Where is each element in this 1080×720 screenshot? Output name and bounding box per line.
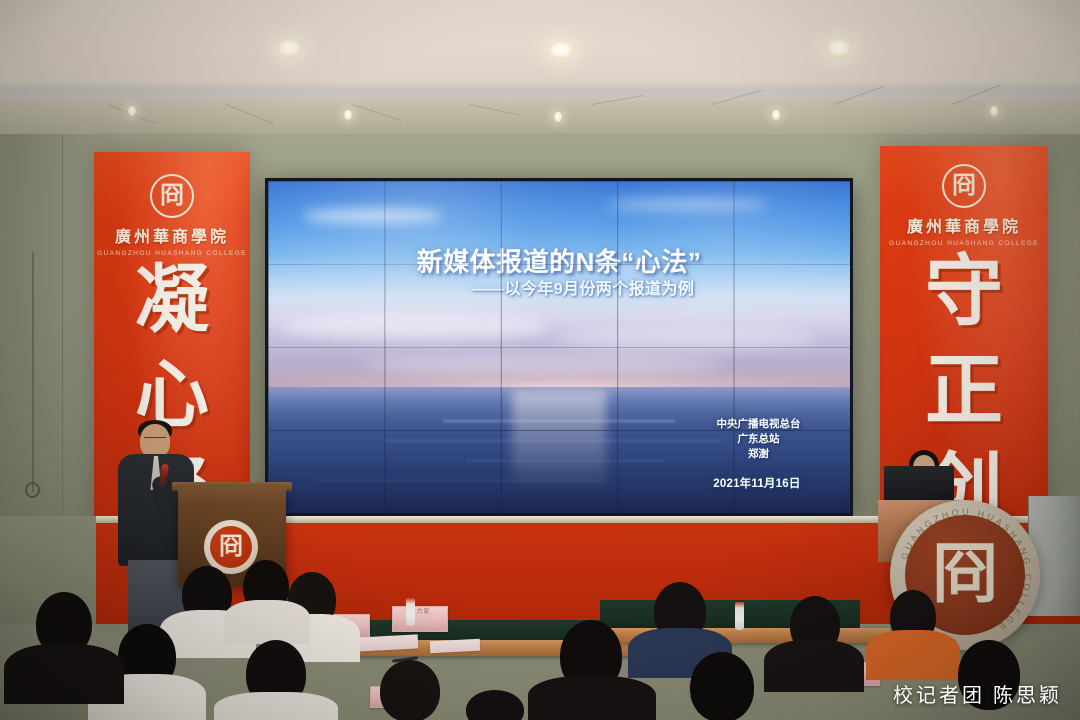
ceiling-spotlight-icon <box>772 110 780 120</box>
photo-credit-watermark: 校记者团 陈思颖 <box>893 679 1062 708</box>
audience-shoulders <box>764 640 864 692</box>
nameplate-text: 王力宏 <box>393 607 447 618</box>
audience-head <box>690 652 754 720</box>
audience-shoulders <box>866 630 960 680</box>
emblem-glyph: 冏 <box>152 176 192 216</box>
screenshot-root: 冏 廣州華商學院 GUANGZHOU HUASHANG COLLEGE 凝 心 … <box>0 0 1080 720</box>
emblem-glyph: 冏 <box>944 166 984 206</box>
slide-subtitle: ——以今年9月份两个报道为例 <box>268 275 850 299</box>
sea-ripple <box>443 420 676 422</box>
banner-left-logo: 冏 廣州華商學院 GUANGZHOU HUASHANG COLLEGE <box>94 174 250 257</box>
college-name-en: GUANGZHOU HUASHANG COLLEGE <box>94 250 250 257</box>
audience-shoulders <box>214 692 338 720</box>
cloud-wisp <box>303 208 443 225</box>
video-wall[interactable]: 新媒体报道的N条“心法” ——以今年9月份两个报道为例 中央广播电视总台 广东总… <box>265 178 853 516</box>
audience-head <box>466 690 524 720</box>
credit-bureau: 广东总站 <box>717 432 801 447</box>
ceiling-spotlight-icon <box>554 112 562 122</box>
presentation-slide: 新媒体报道的N条“心法” ——以今年9月份两个报道为例 中央广播电视总台 广东总… <box>268 181 850 513</box>
table-nameplate: 王力宏 <box>392 606 448 632</box>
slogan-char: 正 <box>880 353 1048 428</box>
credit-organization: 中央广播电视总台 <box>717 417 801 432</box>
college-name-en: GUANGZHOU HUASHANG COLLEGE <box>880 240 1048 247</box>
audience-head <box>380 660 440 720</box>
water-bottle <box>735 602 744 630</box>
ceiling-spotlight-icon <box>990 106 998 116</box>
audience-shoulders <box>4 644 124 704</box>
college-name-cn: 廣州華商學院 <box>880 213 1048 237</box>
ceiling-downlight-icon <box>548 42 574 59</box>
cloud-wisp <box>606 198 769 211</box>
college-emblem-icon: 冏 <box>150 174 194 218</box>
seal-glyph: 冏 <box>932 542 998 608</box>
banner-right-logo: 冏 廣州華商學院 GUANGZHOU HUASHANG COLLEGE <box>880 164 1048 247</box>
audience-shoulders <box>528 676 656 720</box>
college-name-cn: 廣州華商學院 <box>94 223 250 247</box>
cable-hook-icon <box>25 482 40 498</box>
sea-ripple <box>466 460 664 462</box>
hanging-cable <box>32 252 34 492</box>
credit-presenter-name: 郑澍 <box>717 447 801 462</box>
slide-date: 2021年11月16日 <box>713 475 800 491</box>
slogan-char: 守 <box>880 254 1048 329</box>
audience-shoulders <box>224 600 310 644</box>
ceiling-spotlight-icon <box>128 106 136 116</box>
glasses-icon <box>144 437 166 442</box>
podium-emblem-glyph: 冏 <box>210 526 252 568</box>
ceiling-spotlight-icon <box>344 110 352 120</box>
slogan-char: 心 <box>94 359 250 430</box>
slogan-char: 凝 <box>94 264 250 335</box>
water-bottle <box>406 598 415 626</box>
college-emblem-icon: 冏 <box>942 164 986 208</box>
ceiling-soffit <box>0 100 1080 138</box>
slide-credits: 中央广播电视总台 广东总站 郑澍 <box>717 417 801 463</box>
ceiling-downlight-icon <box>826 40 852 57</box>
ceiling-downlight-icon <box>276 40 302 57</box>
sea-ripple <box>315 480 606 482</box>
sea-ripple <box>384 440 722 442</box>
